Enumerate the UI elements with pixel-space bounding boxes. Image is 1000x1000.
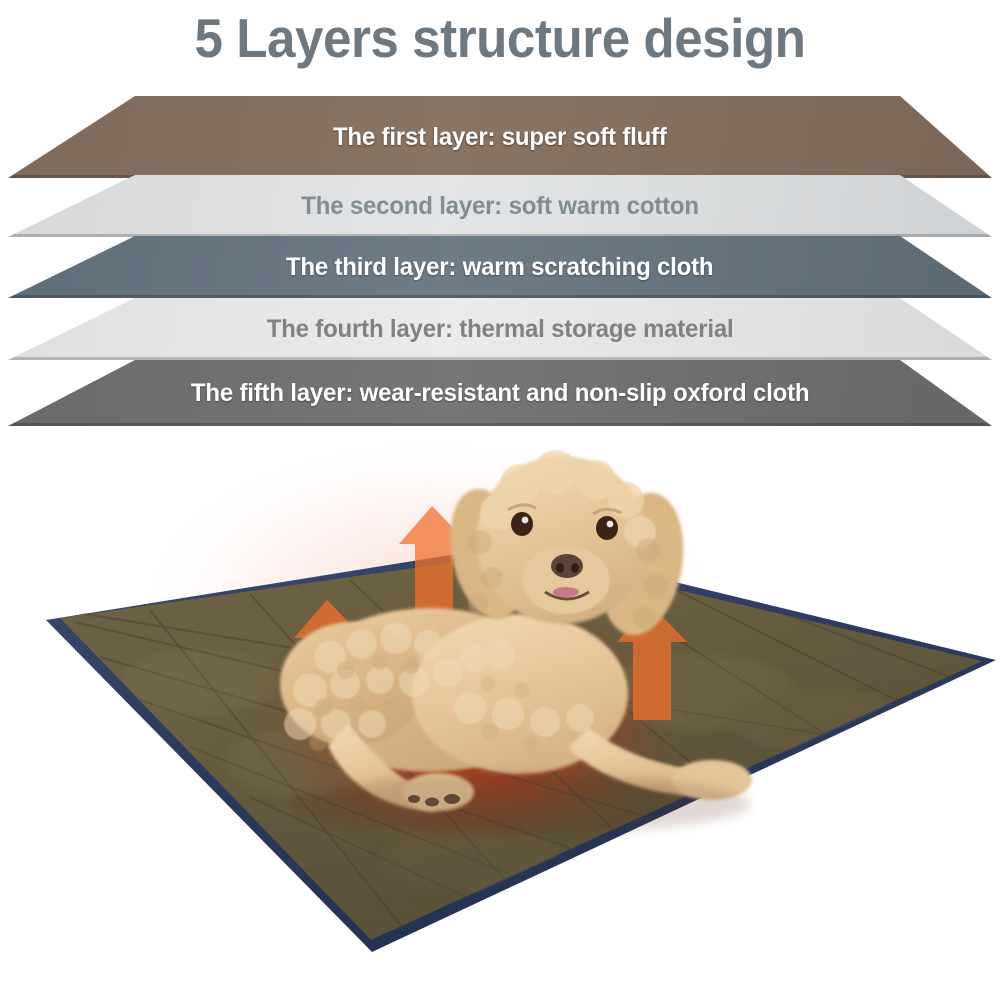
- layer-label-2: The second layer: soft warm cotton: [301, 192, 699, 221]
- dog-tongue: [553, 587, 579, 597]
- dog-contact-shadow: [290, 774, 750, 834]
- dog-eye-left: [511, 512, 533, 536]
- layer-band-1: The first layer: super soft fluff: [0, 96, 1000, 178]
- dog-eye-right: [596, 516, 618, 540]
- layer-label-5: The fifth layer: wear-resistant and non-…: [191, 379, 809, 408]
- layer-band-3: The third layer: warm scratching cloth: [0, 236, 1000, 298]
- layer-band-4: The fourth layer: thermal storage materi…: [0, 298, 1000, 360]
- product-photo-illustration: [0, 432, 1000, 1000]
- layer-label-4: The fourth layer: thermal storage materi…: [267, 315, 734, 344]
- page-title: 5 Layers structure design: [35, 10, 965, 68]
- product-photo: [0, 432, 1000, 1000]
- layer-band-5: The fifth layer: wear-resistant and non-…: [0, 360, 1000, 426]
- infographic-page: 5 Layers structure design The first laye…: [0, 0, 1000, 1000]
- layer-label-1: The first layer: super soft fluff: [333, 123, 667, 152]
- layer-band-2: The second layer: soft warm cotton: [0, 175, 1000, 237]
- layer-label-3: The third layer: warm scratching cloth: [286, 253, 713, 282]
- layer-stack-diagram: The first layer: super soft fluff The se…: [0, 96, 1000, 426]
